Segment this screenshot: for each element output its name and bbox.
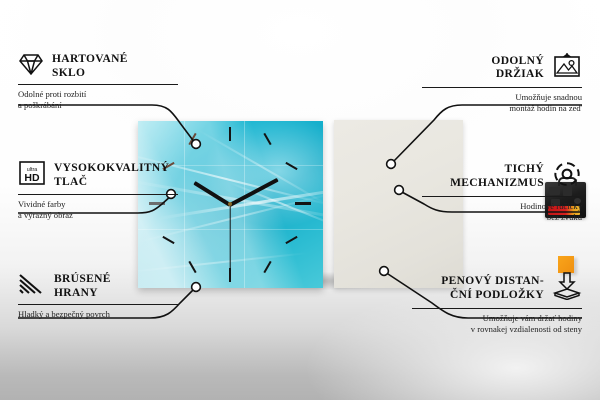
product-photo bbox=[138, 108, 463, 288]
feature-title: BRÚSENÉ HRANY bbox=[54, 273, 111, 300]
feature-description: Odolné proti rozbití a poškrábání bbox=[18, 89, 178, 111]
hour-tick bbox=[295, 202, 311, 205]
feature-foam-spacers: PENOVÝ DISTAN- ČNÍ PODLOŽKY Umožňuje vám… bbox=[412, 272, 582, 335]
feature-divider bbox=[18, 304, 178, 305]
hour-tick bbox=[263, 133, 271, 145]
second-hand bbox=[229, 205, 230, 271]
feature-divider bbox=[18, 194, 178, 195]
hour-tick bbox=[285, 162, 297, 170]
feature-divider bbox=[412, 308, 582, 309]
foam-pad-icon bbox=[552, 272, 582, 305]
hour-tick bbox=[229, 127, 231, 141]
feature-title: TICHÝ MECHANIZMUS bbox=[450, 163, 544, 190]
feature-divider bbox=[422, 196, 582, 197]
feature-silent-mechanism: TICHÝ MECHANIZMUS Hodinové ručičky bez z… bbox=[422, 160, 582, 223]
feature-title: HARTOVANÉ SKLO bbox=[52, 53, 128, 80]
feature-description: Umožňuje snadnou montáž hodin na zeď bbox=[422, 92, 582, 114]
foam-spacer-pad bbox=[558, 256, 574, 273]
infographic-canvas: HARTOVANÉ SKLO Odolné proti rozbití a po… bbox=[0, 0, 600, 400]
feature-title: VYSOKOKVALITNÝ TLAČ bbox=[54, 162, 169, 189]
hour-tick bbox=[188, 133, 196, 145]
feature-polished-edges: BRÚSENÉ HRANY Hladký a bezpečný povrch bbox=[18, 272, 178, 320]
svg-text:HD: HD bbox=[24, 172, 40, 184]
feature-description: Vividné farby a výrazný obraz bbox=[18, 199, 178, 221]
feature-divider bbox=[18, 84, 178, 85]
ultra-hd-icon: ultra HD bbox=[18, 160, 46, 191]
feature-divider bbox=[422, 87, 582, 88]
feature-title: PENOVÝ DISTAN- ČNÍ PODLOŽKY bbox=[441, 275, 544, 302]
hour-tick bbox=[188, 261, 196, 273]
feature-description: Hodinové ručičky bez zvuku bbox=[422, 201, 582, 223]
hanging-frame-icon bbox=[552, 52, 582, 84]
gear-icon bbox=[552, 160, 582, 193]
brushed-edges-icon bbox=[18, 272, 46, 301]
feature-title: ODOLNÝ DRŽIAK bbox=[491, 55, 544, 82]
hour-tick bbox=[285, 236, 297, 244]
feature-durable-holder: ODOLNÝ DRŽIAK Umožňuje snadnou montáž ho… bbox=[422, 52, 582, 114]
feature-description: Umožňuje vám držať hodiny v rovnakej vzd… bbox=[412, 313, 582, 335]
feature-high-quality-print: ultra HD VYSOKOKVALITNÝ TLAČ Vividné far… bbox=[18, 160, 178, 221]
hour-tick bbox=[263, 261, 271, 273]
diamond-icon bbox=[18, 52, 44, 81]
hour-tick bbox=[162, 236, 174, 244]
feature-hardened-glass: HARTOVANÉ SKLO Odolné proti rozbití a po… bbox=[18, 52, 178, 111]
clock-hub bbox=[228, 202, 232, 206]
feature-description: Hladký a bezpečný povrch bbox=[18, 309, 178, 320]
